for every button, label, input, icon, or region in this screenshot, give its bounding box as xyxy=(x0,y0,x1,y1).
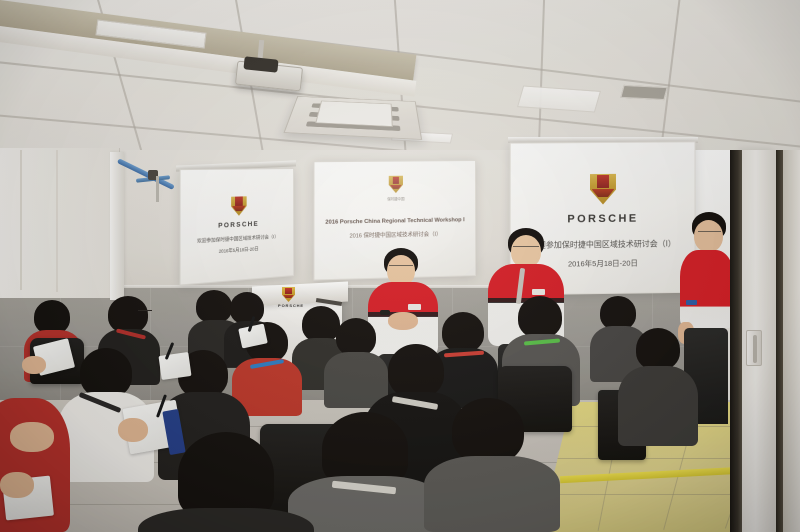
wristwatch xyxy=(380,310,390,315)
attendee-head xyxy=(600,296,636,330)
attendee-torso xyxy=(618,366,698,446)
attendee-hand xyxy=(0,472,34,498)
wall-corner-post xyxy=(110,152,124,300)
attendee-head xyxy=(80,348,132,398)
left-screen-date-line: 2016年5月18日-20日 xyxy=(219,246,259,255)
attendee-head xyxy=(34,300,70,334)
attendee-head xyxy=(108,296,148,333)
right-screen-date-line: 2016年5月18日-20日 xyxy=(568,257,638,269)
attendee-head xyxy=(336,318,376,356)
lectern-wordmark: PORSCHE xyxy=(268,303,314,308)
glasses-icon xyxy=(513,246,539,250)
presenter-hands xyxy=(388,312,418,330)
attendee-head xyxy=(230,292,264,324)
air-conditioner-center-panel xyxy=(315,101,393,127)
door-frame-shadow xyxy=(776,150,783,532)
attendee-head xyxy=(452,398,524,464)
attendee-head xyxy=(322,412,408,486)
open-door-leaf[interactable] xyxy=(742,150,776,532)
left-screen-wordmark: PORSCHE xyxy=(218,220,259,229)
glasses-icon xyxy=(389,265,413,269)
porsche-crest-icon xyxy=(389,176,403,193)
chest-badge xyxy=(532,289,545,295)
door-hinge xyxy=(746,330,762,366)
wall-panel-seam xyxy=(20,150,22,290)
attendee-hand xyxy=(118,418,148,442)
glasses-icon xyxy=(698,231,721,235)
staff-torso xyxy=(680,250,734,328)
chest-badge xyxy=(408,304,421,310)
clipboard xyxy=(158,352,191,380)
ceiling-vent-grille xyxy=(620,85,667,100)
door-frame xyxy=(783,150,800,532)
pipe-drop-stem xyxy=(156,176,159,202)
left-wall-panels xyxy=(0,148,120,298)
sleeve-badge xyxy=(686,300,697,305)
middle-screen-title-cn: 2016 保时捷中国区域技术研讨会（I） xyxy=(350,230,442,240)
right-screen-wordmark: PORSCHE xyxy=(567,212,638,225)
attendee-torso xyxy=(138,508,314,532)
glasses-icon xyxy=(138,310,152,314)
porsche-crest-icon xyxy=(282,287,295,302)
middle-screen-sublogo: 保时捷中国 xyxy=(387,196,404,201)
attendee-hand xyxy=(22,356,46,374)
photo-scene: PORSCHE 欢迎参加保时捷中国区域技术研讨会（I） 2016年5月18日-2… xyxy=(0,0,800,532)
attendee-head xyxy=(196,290,232,323)
attendee-head xyxy=(302,306,340,342)
staff-head xyxy=(694,220,723,252)
attendee-torso xyxy=(424,456,560,532)
wall-panel-seam xyxy=(56,150,58,292)
porsche-crest-icon xyxy=(590,173,616,204)
left-screen-welcome-line: 欢迎参加保时捷中国区域技术研讨会（I） xyxy=(197,233,278,244)
left-projection-screen: PORSCHE 欢迎参加保时捷中国区域技术研讨会（I） 2016年5月18日-2… xyxy=(179,168,294,286)
middle-screen-title-en: 2016 Porsche China Regional Technical Wo… xyxy=(325,217,464,226)
porsche-crest-icon xyxy=(231,196,247,216)
attendee-head xyxy=(388,344,444,398)
attendee-head xyxy=(442,312,484,352)
attendee-hand xyxy=(10,422,54,452)
attendee-head xyxy=(178,432,274,518)
attendee-head xyxy=(518,296,562,338)
attendee-head xyxy=(636,328,680,370)
